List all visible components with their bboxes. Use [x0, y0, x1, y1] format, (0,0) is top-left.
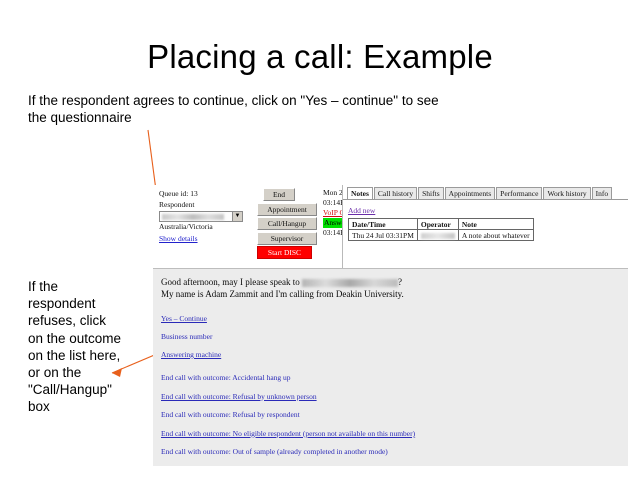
outcome-link-refusal-by-respondent[interactable]: End call with outcome: Refusal by respon… — [161, 410, 628, 419]
script-greeting-prefix: Good afternoon, may I please speak to — [161, 277, 302, 287]
call-script-area: Good afternoon, may I please speak to ? … — [153, 269, 628, 466]
notes-tab-bar: Notes Call history Shifts Appointments P… — [343, 185, 628, 200]
app-top-bar: Queue id: 13 Respondent ▼ Australia/Vict… — [153, 185, 628, 269]
outcome-link-out-of-sample[interactable]: End call with outcome: Out of sample (al… — [161, 447, 628, 456]
start-disc-button[interactable]: Start DISC — [257, 246, 312, 259]
tab-appointments[interactable]: Appointments — [445, 187, 496, 199]
outcome-link-accidental-hang-up[interactable]: End call with outcome: Accidental hang u… — [161, 373, 628, 382]
respondent-label: Respondent — [159, 200, 245, 211]
outcome-link-refusal-unknown-person[interactable]: End call with outcome: Refusal by unknow… — [161, 392, 628, 401]
column-header-operator: Operator — [417, 219, 458, 230]
call-action-buttons: End Appointment Call/Hangup Supervisor S… — [257, 188, 317, 261]
queue-id-label: Queue id: 13 — [159, 189, 245, 200]
tab-performance[interactable]: Performance — [496, 187, 542, 199]
page-title: Placing a call: Example — [0, 38, 640, 76]
call-control-panel: Queue id: 13 Respondent ▼ Australia/Vict… — [153, 185, 342, 268]
tab-notes[interactable]: Notes — [347, 187, 373, 199]
script-greeting-line-2: My name is Adam Zammit and I'm calling f… — [161, 289, 628, 301]
callout-text-top: If the respondent agrees to continue, cl… — [28, 92, 458, 126]
respondent-select[interactable]: ▼ — [159, 211, 243, 222]
timezone-label: Australia/Victoria — [159, 222, 245, 233]
callout-text-left: If the respondent refuses, click on the … — [28, 278, 124, 416]
redacted-respondent-name — [162, 214, 224, 220]
script-greeting-suffix: ? — [398, 277, 402, 287]
embedded-app-screenshot: Queue id: 13 Respondent ▼ Australia/Vict… — [153, 185, 628, 466]
table-header-row: Date/Time Operator Note — [349, 219, 534, 230]
tab-info[interactable]: Info — [592, 187, 613, 199]
show-details-link[interactable]: Show details — [159, 234, 198, 245]
cell-datetime: Thu 24 Jul 03:31PM — [349, 230, 418, 241]
option-link-business-number[interactable]: Business number — [161, 332, 628, 341]
redacted-operator-name — [421, 233, 455, 239]
redacted-respondent-name-inline — [302, 279, 398, 287]
column-header-datetime: Date/Time — [349, 219, 418, 230]
option-link-yes-continue[interactable]: Yes – Continue — [161, 314, 628, 323]
respondent-info: Queue id: 13 Respondent ▼ Australia/Vict… — [159, 189, 245, 244]
end-button[interactable]: End — [263, 188, 295, 201]
cell-operator — [417, 230, 458, 241]
chevron-down-icon[interactable]: ▼ — [232, 212, 242, 221]
table-row[interactable]: Thu 24 Jul 03:31PM A note about whatever — [349, 230, 534, 241]
call-hangup-button[interactable]: Call/Hangup — [257, 217, 317, 230]
tab-call-history[interactable]: Call history — [374, 187, 417, 199]
notes-panel: Notes Call history Shifts Appointments P… — [342, 185, 628, 268]
option-link-answering-machine[interactable]: Answering machine — [161, 350, 628, 359]
add-new-note-link[interactable]: Add new — [348, 206, 375, 215]
appointment-button[interactable]: Appointment — [257, 203, 317, 216]
column-header-note: Note — [458, 219, 533, 230]
tab-work-history[interactable]: Work history — [543, 187, 590, 199]
cell-note: A note about whatever — [458, 230, 533, 241]
tab-shifts[interactable]: Shifts — [418, 187, 444, 199]
supervisor-button[interactable]: Supervisor — [257, 232, 317, 245]
outcome-link-no-eligible-respondent[interactable]: End call with outcome: No eligible respo… — [161, 429, 628, 438]
script-greeting-line-1: Good afternoon, may I please speak to ? — [161, 277, 628, 289]
notes-table: Date/Time Operator Note Thu 24 Jul 03:31… — [348, 218, 534, 241]
